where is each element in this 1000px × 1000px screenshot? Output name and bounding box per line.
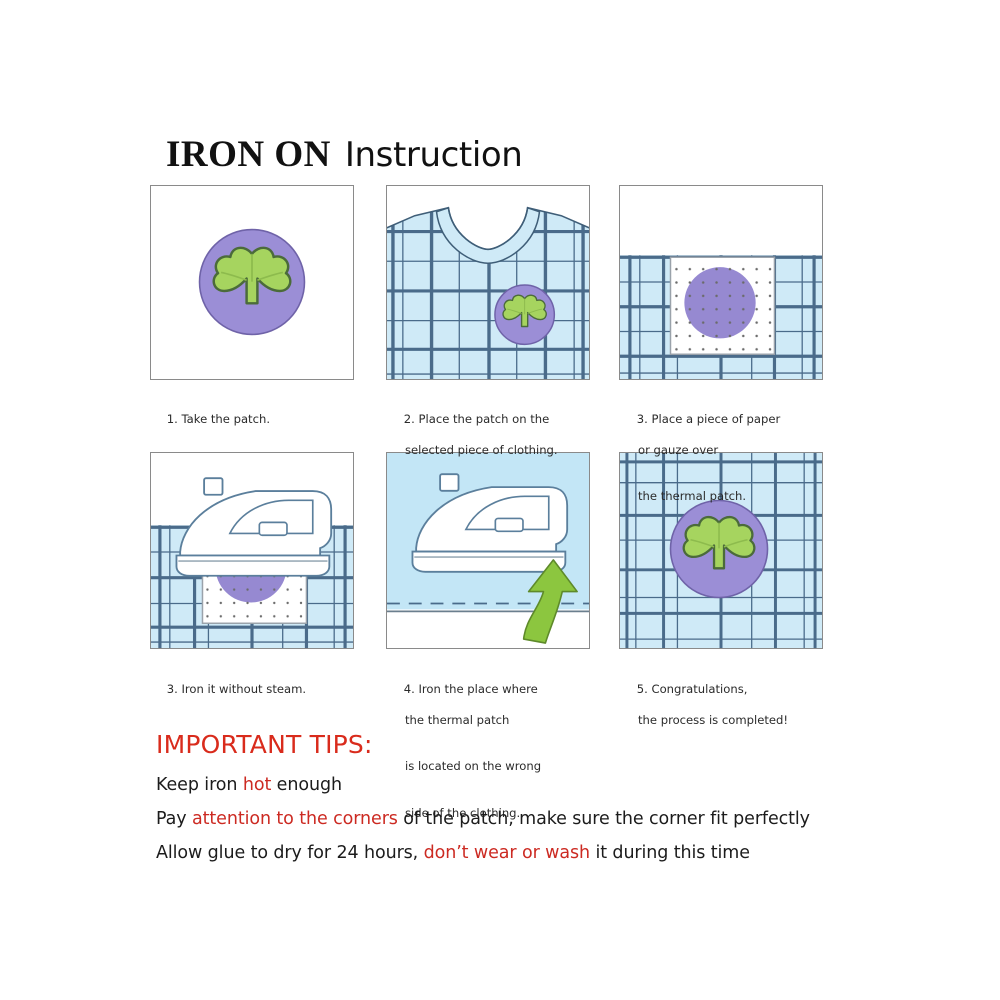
caption-panel-3: 3. Place a piece of paper or gauze over … <box>622 396 780 536</box>
tip-text: it during this time <box>590 843 750 863</box>
caption-line: is located on the wrong <box>389 759 541 775</box>
tip-emphasis: hot <box>243 775 271 795</box>
caption-panel-6: 5. Congratulations, the process is compl… <box>622 666 788 759</box>
caption-line: the process is completed! <box>622 713 788 729</box>
instruction-sheet: IRON ONInstruction <box>0 0 1000 1000</box>
panel-paper-over-patch <box>619 185 823 380</box>
caption-line: 5. Congratulations, <box>637 682 748 696</box>
tip-text: Allow glue to dry for 24 hours, <box>156 843 424 863</box>
tip-emphasis: don’t wear or wash <box>424 843 590 863</box>
caption-line: 3. Place a piece of paper <box>637 412 781 426</box>
title-iron-on: IRON ON <box>166 134 331 175</box>
caption-panel-2: 2. Place the patch on the selected piece… <box>389 396 558 489</box>
tip-text: enough <box>271 775 342 795</box>
tip-text: Pay <box>156 809 192 829</box>
iron-on-gauze-illustration <box>151 453 353 648</box>
panel-iron-without-steam <box>150 452 354 649</box>
panel-place-patch-on-clothing <box>386 185 590 380</box>
page-title: IRON ONInstruction <box>166 133 522 176</box>
caption-panel-4: 3. Iron it without steam. <box>152 666 306 713</box>
tip-line-3: Allow glue to dry for 24 hours, don’t we… <box>156 843 750 863</box>
shirt-with-patch-illustration <box>387 186 589 379</box>
tip-text: of the patch, make sure the corner fit p… <box>398 809 810 829</box>
tip-line-2: Pay attention to the corners of the patc… <box>156 809 810 829</box>
caption-line: 4. Iron the place where <box>404 682 538 696</box>
caption-panel-1: 1. Take the patch. <box>152 396 270 443</box>
gauze-over-patch-illustration <box>620 186 822 379</box>
patch-illustration <box>151 186 353 379</box>
caption-line: or gauze over <box>622 443 780 459</box>
caption-line: the thermal patch. <box>622 489 780 505</box>
important-tips-heading: IMPORTANT TIPS: <box>156 730 373 759</box>
caption-line: 2. Place the patch on the <box>404 412 550 426</box>
tip-emphasis: attention to the corners <box>192 809 398 829</box>
caption-line: selected piece of clothing. <box>389 443 558 459</box>
caption-line: 1. Take the patch. <box>167 412 270 426</box>
tip-line-1: Keep iron hot enough <box>156 775 342 795</box>
caption-line: 3. Iron it without steam. <box>167 682 306 696</box>
caption-line: the thermal patch <box>389 713 541 729</box>
tip-text: Keep iron <box>156 775 243 795</box>
title-instruction: Instruction <box>345 135 523 175</box>
panel-take-the-patch <box>150 185 354 380</box>
